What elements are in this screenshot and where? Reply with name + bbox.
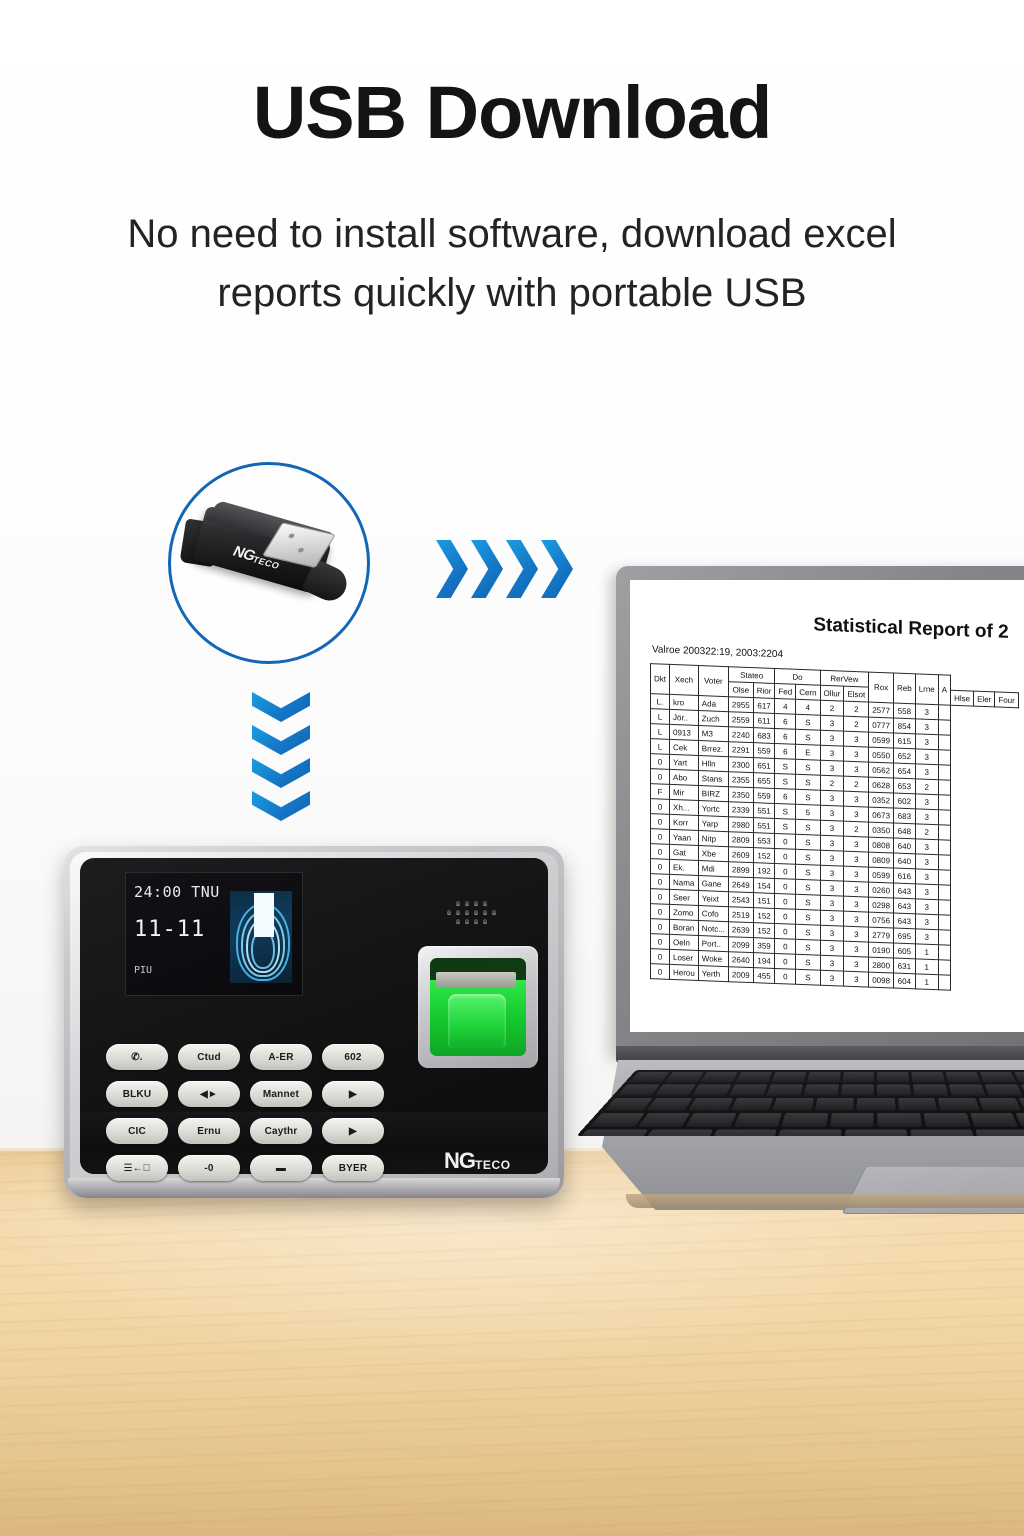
table-cell: 1 xyxy=(915,959,938,975)
report-col-header: Voter xyxy=(698,666,728,697)
report-col-header: Dkt xyxy=(651,664,670,695)
table-cell: 1 xyxy=(915,944,938,960)
table-cell: S xyxy=(796,864,820,880)
chevron-down-icon xyxy=(252,758,310,788)
table-cell: Mdi xyxy=(698,861,728,877)
table-cell: Korr xyxy=(670,814,699,830)
table-cell: 854 xyxy=(894,718,916,734)
table-cell: BIRZ xyxy=(698,786,728,802)
table-cell: 2 xyxy=(844,701,869,717)
keyboard-key[interactable] xyxy=(590,1113,645,1127)
table-cell: 0 xyxy=(775,863,796,879)
table-cell: Xbe xyxy=(698,846,728,862)
table-cell: 0 xyxy=(651,829,670,845)
keyboard-key[interactable] xyxy=(807,1072,841,1082)
report-col-header: Xech xyxy=(670,664,699,695)
table-cell xyxy=(938,885,950,900)
table-cell: 2955 xyxy=(728,697,753,713)
keyboard-key[interactable] xyxy=(646,1098,692,1111)
table-cell xyxy=(938,825,950,840)
table-cell: 0352 xyxy=(869,792,894,808)
table-cell: Herou xyxy=(670,964,699,980)
table-cell: S xyxy=(796,954,820,970)
table-cell: 3 xyxy=(915,899,938,915)
table-cell: 3 xyxy=(844,881,869,897)
table-cell: 3 xyxy=(915,794,938,810)
table-cell: 3 xyxy=(844,836,869,852)
keyboard-key[interactable] xyxy=(604,1098,652,1111)
keypad-key-1[interactable]: Ctud xyxy=(178,1044,240,1070)
keypad-key-10[interactable]: Caythr xyxy=(250,1118,312,1144)
table-cell: 3 xyxy=(915,749,938,765)
keypad-key-5[interactable]: ◀► xyxy=(178,1081,240,1107)
table-cell: 2240 xyxy=(728,727,753,743)
table-cell: Yerth xyxy=(698,966,728,982)
chevron-right-icon xyxy=(541,540,573,598)
table-cell xyxy=(938,945,950,960)
table-cell xyxy=(938,795,950,810)
report-subcol-header: Eler xyxy=(974,691,995,707)
table-cell: 3 xyxy=(820,835,844,851)
table-cell: 553 xyxy=(753,833,775,849)
table-cell: 653 xyxy=(894,778,916,794)
table-cell: 2350 xyxy=(728,787,753,803)
table-cell: 602 xyxy=(894,793,916,809)
table-cell: 0 xyxy=(775,908,796,924)
table-cell: 2649 xyxy=(728,877,753,893)
table-cell: 0 xyxy=(651,769,670,785)
table-cell: S xyxy=(796,924,820,940)
table-cell: 0809 xyxy=(869,852,894,868)
chevron-right-icon xyxy=(471,540,503,598)
speaker-hole xyxy=(465,910,469,914)
table-cell: 3 xyxy=(820,910,844,926)
table-cell: Abo xyxy=(670,769,699,785)
keyboard-key[interactable] xyxy=(654,1084,695,1095)
product-marketing-image: USB Download No need to install software… xyxy=(0,0,1024,1536)
table-cell: 0 xyxy=(651,799,670,815)
keyboard-key[interactable] xyxy=(766,1084,803,1095)
table-cell: 2 xyxy=(915,824,938,840)
table-cell: 0 xyxy=(651,874,670,890)
keyboard-key[interactable] xyxy=(700,1072,738,1082)
table-cell: 3 xyxy=(820,895,844,911)
speaker-hole xyxy=(465,901,469,905)
table-cell xyxy=(938,900,950,915)
keypad-key-3[interactable]: 602 xyxy=(322,1044,384,1070)
table-cell: 0 xyxy=(775,938,796,954)
report-col-header: Lrne xyxy=(915,674,938,705)
keyboard-key[interactable] xyxy=(734,1113,783,1127)
report-title: Statistical Report of 2 xyxy=(706,610,1024,648)
table-cell: 2519 xyxy=(728,907,753,923)
device-lcd-screen: 24:00 TNU 11-11 PIU xyxy=(125,872,303,996)
table-cell: 2 xyxy=(820,775,844,791)
table-cell: 2800 xyxy=(869,957,894,973)
scanner-well xyxy=(430,958,526,1056)
keyboard-key[interactable] xyxy=(857,1098,896,1111)
table-cell xyxy=(938,765,950,780)
table-cell: 2 xyxy=(844,776,869,792)
table-cell xyxy=(938,930,950,945)
laptop-with-report: Statistical Report of 2 Valroe 200322:19… xyxy=(616,566,1024,1206)
keypad-key-14[interactable]: ▬ xyxy=(250,1155,312,1181)
table-cell: 4 xyxy=(775,698,796,714)
table-cell: 604 xyxy=(894,973,916,989)
table-cell: 0 xyxy=(651,964,670,980)
table-cell: Stans xyxy=(698,771,728,787)
keyboard-key[interactable] xyxy=(709,1130,778,1137)
table-cell: 643 xyxy=(894,883,916,899)
keypad-key-15[interactable]: BYER xyxy=(322,1155,384,1181)
table-cell: 2779 xyxy=(869,927,894,943)
table-cell: 152 xyxy=(753,908,775,924)
table-cell: Seer xyxy=(670,889,699,905)
table-cell: 3 xyxy=(820,955,844,971)
table-cell: 3 xyxy=(915,854,938,870)
table-cell: 2 xyxy=(820,700,844,716)
table-cell: 3 xyxy=(844,956,869,972)
table-cell: 0 xyxy=(651,754,670,770)
table-cell: 3 xyxy=(820,865,844,881)
speaker-hole xyxy=(492,910,496,914)
fingerprint-scanner[interactable] xyxy=(418,946,538,1068)
table-cell: 611 xyxy=(753,713,775,729)
table-cell: 0 xyxy=(651,919,670,935)
laptop-base-shadow xyxy=(626,1194,1024,1208)
table-cell: 3 xyxy=(915,704,938,720)
table-cell: 0599 xyxy=(869,867,894,883)
table-cell: 0260 xyxy=(869,882,894,898)
keyboard-key[interactable] xyxy=(782,1113,829,1127)
table-cell: 3 xyxy=(915,884,938,900)
speaker-hole xyxy=(447,910,451,914)
table-cell: Gane xyxy=(698,876,728,892)
table-cell: 651 xyxy=(753,758,775,774)
table-cell: S xyxy=(796,969,820,985)
table-cell xyxy=(938,975,950,990)
keypad-key-0[interactable]: ✆. xyxy=(106,1044,168,1070)
table-cell xyxy=(938,870,950,885)
table-cell: 2980 xyxy=(728,817,753,833)
table-cell: 3 xyxy=(844,911,869,927)
table-cell: 631 xyxy=(894,958,916,974)
speaker-hole xyxy=(483,919,487,923)
keyboard-key[interactable] xyxy=(730,1098,773,1111)
keypad-key-7[interactable]: ▶ xyxy=(322,1081,384,1107)
table-cell: 605 xyxy=(894,943,916,959)
lcd-time-text: 24:00 TNU xyxy=(134,883,220,901)
table-cell: S xyxy=(796,834,820,850)
table-cell: 2809 xyxy=(728,832,753,848)
table-cell: 192 xyxy=(753,863,775,879)
table-cell: Oeln xyxy=(670,934,699,950)
table-cell: 0550 xyxy=(869,747,894,763)
keyboard-key[interactable] xyxy=(641,1130,713,1137)
table-cell: 3 xyxy=(915,809,938,825)
table-cell: 4 xyxy=(796,699,820,715)
table-cell: 3 xyxy=(915,764,938,780)
table-cell: 5 xyxy=(796,804,820,820)
table-cell: 2355 xyxy=(728,772,753,788)
table-cell: Woke xyxy=(698,951,728,967)
table-cell: 3 xyxy=(915,869,938,885)
table-cell: 3 xyxy=(844,941,869,957)
table-cell: 3 xyxy=(915,839,938,855)
table-cell: 0 xyxy=(651,844,670,860)
fingerprint-graphic xyxy=(230,891,292,983)
table-cell: 0599 xyxy=(869,732,894,748)
table-cell: Ada xyxy=(698,696,728,712)
table-cell: 3 xyxy=(915,929,938,945)
scanner-sensor-pad xyxy=(448,994,506,1048)
table-cell: 6 xyxy=(775,728,796,744)
table-cell: Jör.. xyxy=(670,709,699,725)
table-cell: 2640 xyxy=(728,952,753,968)
table-cell: S xyxy=(796,714,820,730)
table-cell: Xh... xyxy=(670,799,699,815)
speaker-hole xyxy=(474,910,478,914)
table-cell: 3 xyxy=(820,940,844,956)
table-cell: 3 xyxy=(844,896,869,912)
page-title: USB Download xyxy=(0,76,1024,150)
table-cell: S xyxy=(796,879,820,895)
device-brand-logo: NGTECO xyxy=(444,1148,511,1174)
table-cell: S xyxy=(796,819,820,835)
report-subcol-header: Elsot xyxy=(844,686,869,702)
table-cell: S xyxy=(775,758,796,774)
keyboard-key[interactable] xyxy=(617,1084,660,1095)
table-cell: 0 xyxy=(775,878,796,894)
table-cell: 151 xyxy=(753,893,775,909)
keyboard-key[interactable] xyxy=(878,1113,922,1127)
table-cell: 0190 xyxy=(869,942,894,958)
table-cell: 683 xyxy=(894,808,916,824)
table-cell: 559 xyxy=(753,788,775,804)
table-cell: Zuch xyxy=(698,711,728,727)
report-col-header: A xyxy=(938,675,950,705)
table-cell: 0808 xyxy=(869,837,894,853)
table-cell: F xyxy=(651,784,670,800)
keyboard-key[interactable] xyxy=(877,1072,909,1082)
scanner-top-bar xyxy=(436,972,516,988)
keyboard-key[interactable] xyxy=(736,1072,772,1082)
table-cell: S xyxy=(796,759,820,775)
statistical-report-document: Statistical Report of 2 Valroe 200322:19… xyxy=(646,590,1024,997)
table-cell: 2577 xyxy=(869,702,894,718)
table-cell: 3 xyxy=(820,820,844,836)
table-cell: 654 xyxy=(894,763,916,779)
report-col-header: Rox xyxy=(869,672,894,703)
table-cell: 3 xyxy=(844,746,869,762)
keyboard-key[interactable] xyxy=(815,1098,855,1111)
table-cell: 0777 xyxy=(869,717,894,733)
table-cell: 2899 xyxy=(728,862,753,878)
table-cell: 551 xyxy=(753,818,775,834)
table-cell: L. xyxy=(651,694,670,710)
table-cell: 0298 xyxy=(869,897,894,913)
report-table: DktXechVoterStateoDoRerVewRoxRebLrneA Ol… xyxy=(650,663,1019,993)
table-cell: 0 xyxy=(651,889,670,905)
table-cell: 0913 xyxy=(670,724,699,740)
table-cell: L xyxy=(651,739,670,755)
table-cell: 0 xyxy=(775,923,796,939)
keyboard-key[interactable] xyxy=(878,1084,912,1095)
table-cell: 648 xyxy=(894,823,916,839)
keyboard-key[interactable] xyxy=(772,1098,813,1111)
table-cell: Hlln xyxy=(698,756,728,772)
page-subtitle: No need to install software, download ex… xyxy=(112,205,912,323)
table-cell: Yaan xyxy=(670,829,699,845)
keyboard-key[interactable] xyxy=(776,1130,841,1137)
keyboard-key[interactable] xyxy=(830,1113,874,1127)
table-cell: Yart xyxy=(670,754,699,770)
keypad-key-12[interactable]: ☰←ⷠ xyxy=(106,1155,168,1181)
keyboard-key[interactable] xyxy=(898,1098,938,1111)
keyboard-key[interactable] xyxy=(665,1072,704,1082)
table-cell: Ek. xyxy=(670,859,699,875)
device-keypad[interactable]: ✆.CtudA-ER602BLKU◀►Mannet▶CICErnuCaythr▶… xyxy=(106,1044,384,1185)
table-cell: 455 xyxy=(753,968,775,984)
keypad-key-6[interactable]: Mannet xyxy=(250,1081,312,1107)
table-cell: Loser xyxy=(670,949,699,965)
table-cell: M3 xyxy=(698,726,728,742)
keypad-key-13[interactable]: -0 xyxy=(178,1155,240,1181)
report-subcol-header: Olse xyxy=(728,682,753,698)
device-brand-sub: TECO xyxy=(475,1158,511,1172)
table-cell: 2639 xyxy=(728,922,753,938)
table-cell: 3 xyxy=(844,791,869,807)
report-col-header: Do xyxy=(775,668,820,685)
table-cell: S xyxy=(796,729,820,745)
table-cell: 559 xyxy=(753,743,775,759)
table-cell: 0673 xyxy=(869,807,894,823)
table-cell: 3 xyxy=(844,731,869,747)
table-cell: 3 xyxy=(820,745,844,761)
report-table-body: L.kroAda2955617442225775583LJör..Zuch255… xyxy=(651,694,1019,993)
report-subcol-header: Cern xyxy=(796,684,820,700)
keyboard-key[interactable] xyxy=(692,1084,732,1095)
table-cell: 0 xyxy=(651,949,670,965)
lcd-status-text: PIU xyxy=(134,965,152,976)
table-cell: Port.. xyxy=(698,936,728,952)
keyboard-key[interactable] xyxy=(629,1072,669,1082)
table-cell xyxy=(938,915,950,930)
report-col-header: Stateo xyxy=(728,667,774,684)
table-cell xyxy=(938,705,950,720)
keyboard-key[interactable] xyxy=(638,1113,691,1127)
keypad-key-11[interactable]: ▶ xyxy=(322,1118,384,1144)
table-cell: 2291 xyxy=(728,742,753,758)
table-cell: 2609 xyxy=(728,847,753,863)
table-cell: kro xyxy=(670,694,699,710)
table-cell: Mir xyxy=(670,784,699,800)
table-cell: 3 xyxy=(844,806,869,822)
keyboard-key[interactable] xyxy=(688,1098,733,1111)
table-cell: 0 xyxy=(775,833,796,849)
keyboard-key[interactable] xyxy=(771,1072,806,1082)
keypad-key-4[interactable]: BLKU xyxy=(106,1081,168,1107)
keyboard-key[interactable] xyxy=(840,1084,874,1095)
keypad-key-8[interactable]: CIC xyxy=(106,1118,168,1144)
table-cell: 3 xyxy=(820,850,844,866)
report-subcol-header: Four xyxy=(995,692,1018,708)
chevron-down-icon xyxy=(252,791,310,821)
keyboard-key[interactable] xyxy=(576,1130,648,1137)
table-cell: Zomo xyxy=(670,904,699,920)
table-cell: S xyxy=(796,909,820,925)
table-cell: 154 xyxy=(753,878,775,894)
keypad-key-2[interactable]: A-ER xyxy=(250,1044,312,1070)
table-cell: S xyxy=(796,789,820,805)
table-cell: 2 xyxy=(915,779,938,795)
table-cell: S xyxy=(796,894,820,910)
table-cell: 0562 xyxy=(869,762,894,778)
table-cell: Yarp xyxy=(698,816,728,832)
table-cell: 2300 xyxy=(728,757,753,773)
table-cell: 3 xyxy=(915,914,938,930)
table-cell xyxy=(938,735,950,750)
table-cell: 3 xyxy=(915,719,938,735)
keyboard-key[interactable] xyxy=(729,1084,767,1095)
table-cell xyxy=(938,810,950,825)
table-cell: 640 xyxy=(894,838,916,854)
table-cell: 2559 xyxy=(728,712,753,728)
table-cell: 643 xyxy=(894,898,916,914)
table-cell: Cek xyxy=(670,739,699,755)
speaker-hole xyxy=(483,901,487,905)
table-cell: 1 xyxy=(915,974,938,990)
table-cell: 0 xyxy=(775,848,796,864)
table-cell: S xyxy=(775,818,796,834)
table-cell: 0 xyxy=(651,934,670,950)
report-subcol-header: Hlse xyxy=(951,690,974,706)
table-cell: 3 xyxy=(820,805,844,821)
table-cell: Brrez. xyxy=(698,741,728,757)
table-cell: Gat xyxy=(670,844,699,860)
table-cell: 3 xyxy=(915,734,938,750)
table-cell: 655 xyxy=(753,773,775,789)
table-cell: 194 xyxy=(753,953,775,969)
keyboard-key[interactable] xyxy=(686,1113,737,1127)
table-cell: 3 xyxy=(820,715,844,731)
chevron-down-arrows xyxy=(252,692,310,821)
table-cell: 3 xyxy=(820,970,844,986)
chevron-down-icon xyxy=(252,692,310,722)
speaker-grille xyxy=(447,901,501,929)
table-cell: Nama xyxy=(670,874,699,890)
report-subcol-header: Rior xyxy=(753,683,775,699)
table-cell: 0 xyxy=(775,953,796,969)
table-cell: 615 xyxy=(894,733,916,749)
keypad-key-9[interactable]: Ernu xyxy=(178,1118,240,1144)
table-cell: Boran xyxy=(670,919,699,935)
table-cell xyxy=(938,720,950,735)
table-cell: 3 xyxy=(820,790,844,806)
table-cell: 359 xyxy=(753,938,775,954)
keyboard-key[interactable] xyxy=(844,1130,908,1137)
table-cell: 3 xyxy=(820,730,844,746)
table-cell: 6 xyxy=(775,743,796,759)
chevron-right-arrows xyxy=(436,540,573,598)
table-cell: 640 xyxy=(894,853,916,869)
table-cell: S xyxy=(775,803,796,819)
keyboard-key[interactable] xyxy=(842,1072,874,1082)
keyboard-key[interactable] xyxy=(803,1084,838,1095)
table-cell: 2 xyxy=(844,716,869,732)
speaker-hole xyxy=(474,901,478,905)
table-cell: 551 xyxy=(753,803,775,819)
